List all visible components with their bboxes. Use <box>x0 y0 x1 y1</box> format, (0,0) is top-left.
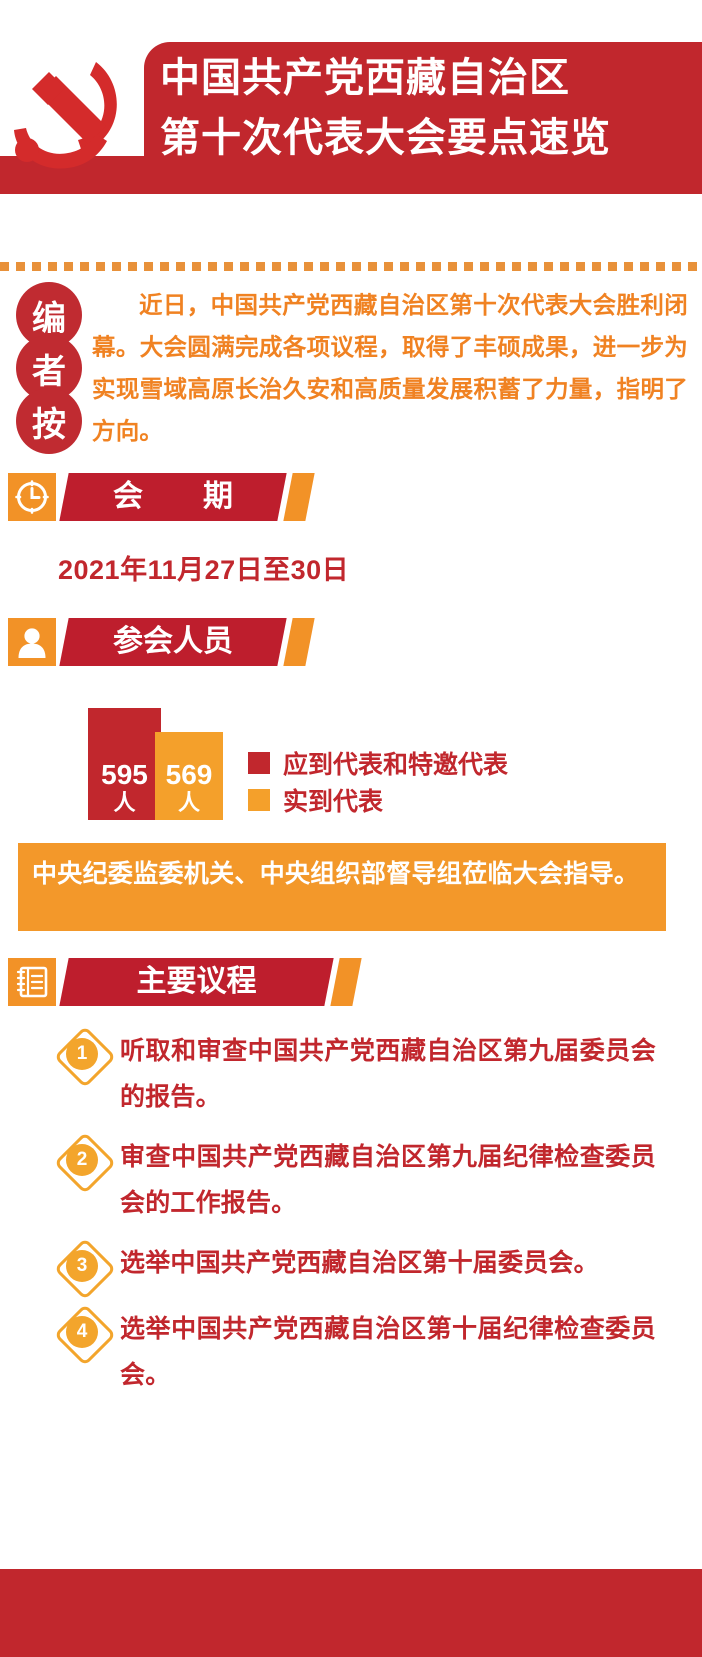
section-title-band-agenda: 主要议程 <box>59 958 333 1006</box>
bar-unit-2: 人 <box>178 790 200 820</box>
editor-note-badge: 编 者 按 <box>16 282 82 454</box>
bar-expected-delegates: 595 人 <box>88 708 161 820</box>
agenda-number-1: 1 <box>66 1038 98 1070</box>
person-icon <box>8 618 56 666</box>
section-tail-attendees <box>283 618 314 666</box>
agenda-number-badge-1: 1 <box>56 1028 108 1080</box>
page-title-line1: 中国共产党西藏自治区 <box>160 48 702 108</box>
bar-value-1: 595 <box>101 760 148 790</box>
section-tail-agenda <box>330 958 361 1006</box>
agenda-text-1: 听取和审查中国共产党西藏自治区第九届委员会的报告。 <box>120 1028 656 1120</box>
section-title-band-attendees: 参会人员 <box>59 618 286 666</box>
bar-actual-delegates: 569 人 <box>155 732 223 820</box>
list-item: 2 审查中国共产党西藏自治区第九届纪律检查委员会的工作报告。 <box>0 1134 702 1226</box>
agenda-list: 1 听取和审查中国共产党西藏自治区第九届委员会的报告。 2 审查中国共产党西藏自… <box>0 1028 702 1412</box>
chart-legend: 应到代表和特邀代表 实到代表 <box>248 744 668 818</box>
agenda-number-3: 3 <box>66 1250 98 1282</box>
editor-note: 编 者 按 近日，中国共产党西藏自治区第十次代表大会胜利闭幕。大会圆满完成各项议… <box>0 282 702 462</box>
section-tail-date <box>283 473 314 521</box>
legend-swatch-red <box>248 752 270 774</box>
page-title-line2: 第十次代表大会要点速览 <box>160 108 702 168</box>
dotted-divider <box>0 262 702 271</box>
editor-note-char-3: 按 <box>16 388 82 454</box>
section-title-date: 会 期 <box>64 473 282 521</box>
page-title: 中国共产党西藏自治区 第十次代表大会要点速览 <box>160 48 702 168</box>
meeting-date-value: 2021年11月27日至30日 <box>58 548 349 587</box>
legend-label-actual: 实到代表 <box>283 782 383 818</box>
page-footer <box>0 1569 702 1657</box>
hammer-and-sickle-icon <box>8 54 138 172</box>
agenda-text-2: 审查中国共产党西藏自治区第九届纪律检查委员会的工作报告。 <box>120 1134 656 1226</box>
list-item: 3 选举中国共产党西藏自治区第十届委员会。 <box>0 1240 702 1292</box>
section-title-band-date: 会 期 <box>59 473 286 521</box>
legend-label-expected: 应到代表和特邀代表 <box>283 745 508 781</box>
legend-swatch-orange <box>248 789 270 811</box>
list-item: 1 听取和审查中国共产党西藏自治区第九届委员会的报告。 <box>0 1028 702 1120</box>
list-item: 4 选举中国共产党西藏自治区第十届纪律检查委员会。 <box>0 1306 702 1398</box>
notebook-icon <box>8 958 56 1006</box>
legend-item-expected: 应到代表和特邀代表 <box>248 744 668 781</box>
agenda-number-badge-2: 2 <box>56 1134 108 1186</box>
supervision-callout: 中央纪委监委机关、中央组织部督导组莅临大会指导。 <box>18 843 666 931</box>
editor-note-text: 近日，中国共产党西藏自治区第十次代表大会胜利闭幕。大会圆满完成各项议程，取得了丰… <box>92 284 688 452</box>
agenda-text-3: 选举中国共产党西藏自治区第十届委员会。 <box>120 1240 656 1286</box>
agenda-number-badge-4: 4 <box>56 1306 108 1358</box>
section-title-attendees: 参会人员 <box>64 618 282 666</box>
legend-item-actual: 实到代表 <box>248 781 668 818</box>
infographic-page: 中国共产党西藏自治区 第十次代表大会要点速览 编 者 按 近日，中国共产党西藏自… <box>0 0 702 1657</box>
agenda-number-badge-3: 3 <box>56 1240 108 1292</box>
clock-icon <box>8 473 56 521</box>
bar-unit-1: 人 <box>113 790 135 820</box>
agenda-number-4: 4 <box>66 1316 98 1348</box>
page-header: 中国共产党西藏自治区 第十次代表大会要点速览 <box>0 42 702 194</box>
agenda-text-4: 选举中国共产党西藏自治区第十届纪律检查委员会。 <box>120 1306 656 1398</box>
agenda-number-2: 2 <box>66 1144 98 1176</box>
section-title-agenda: 主要议程 <box>64 958 329 1006</box>
bar-value-2: 569 <box>166 760 213 790</box>
